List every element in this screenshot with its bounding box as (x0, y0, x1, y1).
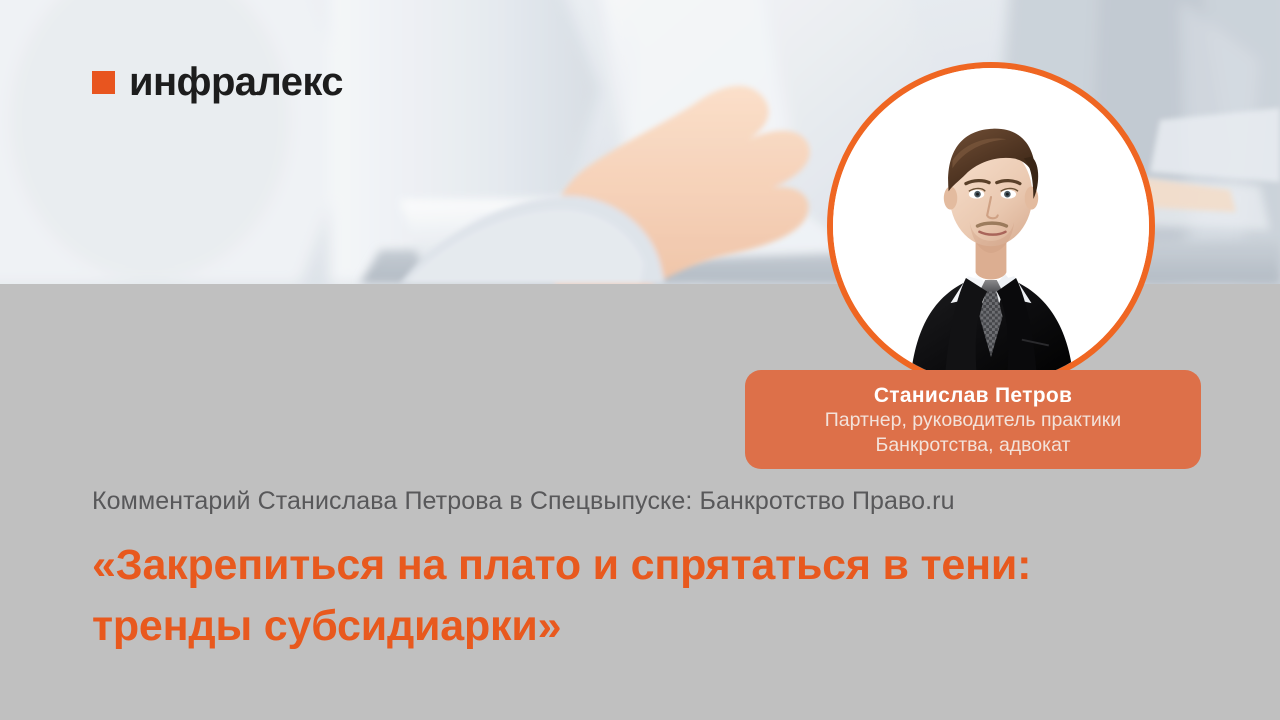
speaker-role-line-1: Партнер, руководитель практики (825, 408, 1121, 433)
logo-wordmark: инфралекс (129, 62, 343, 102)
headline: «Закрепиться на плато и спрятаться в тен… (92, 535, 1212, 657)
headline-line-2: тренды субсидиарки» (92, 596, 1212, 657)
speaker-portrait (827, 62, 1155, 390)
kicker-text: Комментарий Станислава Петрова в Спецвып… (92, 487, 955, 516)
logo-square-icon (92, 71, 115, 94)
speaker-name-badge: Станислав Петров Партнер, руководитель п… (745, 370, 1201, 469)
promo-banner: инфралекс (0, 0, 1280, 720)
logo[interactable]: инфралекс (92, 62, 343, 102)
speaker-name: Станислав Петров (874, 383, 1072, 408)
speaker-role-line-2: Банкротства, адвокат (876, 433, 1071, 458)
headline-line-1: «Закрепиться на плато и спрятаться в тен… (92, 535, 1212, 596)
